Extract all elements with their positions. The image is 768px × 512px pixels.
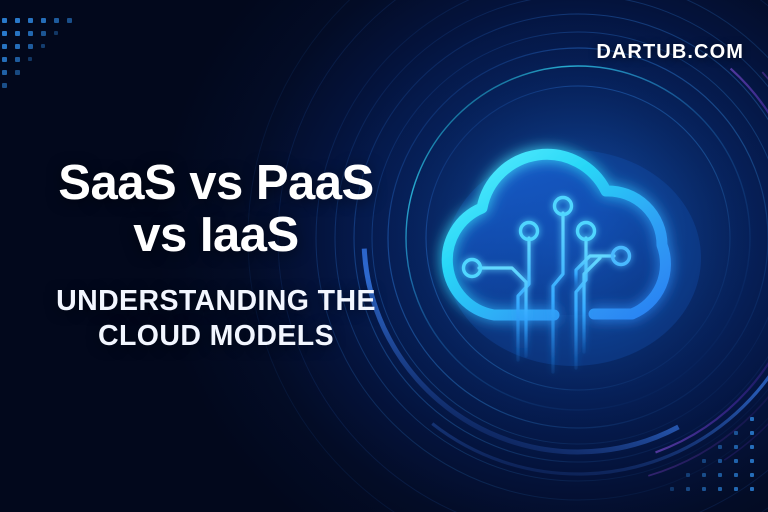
page-subtitle: UNDERSTANDING THE CLOUD MODELS [56, 284, 376, 354]
poster-canvas: SaaS vs PaaS vs IaaS UNDERSTANDING THE C… [0, 0, 768, 512]
dot-grid-bottom-right-decoration [664, 413, 764, 508]
title-line-1: SaaS vs PaaS [58, 158, 373, 210]
title-line-2: vs IaaS [58, 210, 373, 262]
brand-watermark: DARTUB.COM [596, 41, 744, 64]
cloud-circuit-icon [408, 88, 748, 428]
hero-text-block: SaaS vs PaaS vs IaaS UNDERSTANDING THE C… [0, 0, 432, 512]
subtitle-line-1: UNDERSTANDING THE [56, 284, 376, 319]
page-title: SaaS vs PaaS vs IaaS [58, 158, 373, 262]
subtitle-line-2: CLOUD MODELS [56, 319, 376, 354]
